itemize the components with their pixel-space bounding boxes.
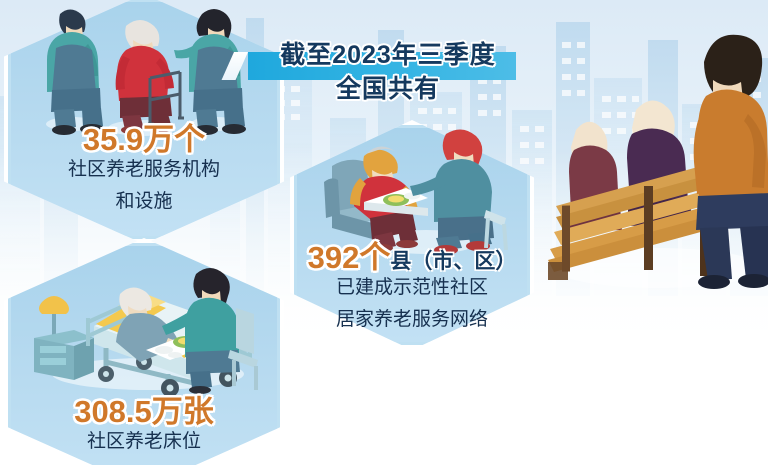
stat-2-number: 392个县（市、区） [290,232,534,277]
stat-2-label-line2: 居家养老服务网络 [290,306,534,333]
stat-1-label-line1: 社区养老服务机构 [4,156,284,183]
stat-1-label-line2: 和设施 [4,188,284,215]
hexagon-1-content: 35.9万个 社区养老服务机构 和设施 [4,0,284,244]
stat-1-number: 35.9万个 [4,114,284,159]
hexagon-3-content: 308.5万张 社区养老床位 [4,238,284,465]
stat-2-number-value: 392个 [308,240,391,275]
stat-3-label-line1: 社区养老床位 [4,428,284,455]
park-bench-scene [540,10,768,320]
hexagon-2-content: 392个县（市、区） 已建成示范性社区 居家养老服务网络 [290,120,534,350]
nightstand-and-lamp [34,296,94,380]
title-line-2: 全国共有 [238,74,538,104]
title-line-1: 截至2023年三季度 [238,40,538,70]
infographic-canvas: 35.9万个 社区养老服务机构 和设施 [0,0,768,465]
stat-3-number: 308.5万张 [4,386,284,431]
title-block: 截至2023年三季度 全国共有 [238,40,538,104]
stat-2-number-suffix: 县（市、区） [390,250,516,273]
stat-2-label-line1: 已建成示范性社区 [290,274,534,301]
illustration-nurse-feeding-elder-in-bed [20,252,270,392]
standing-man [694,35,768,289]
